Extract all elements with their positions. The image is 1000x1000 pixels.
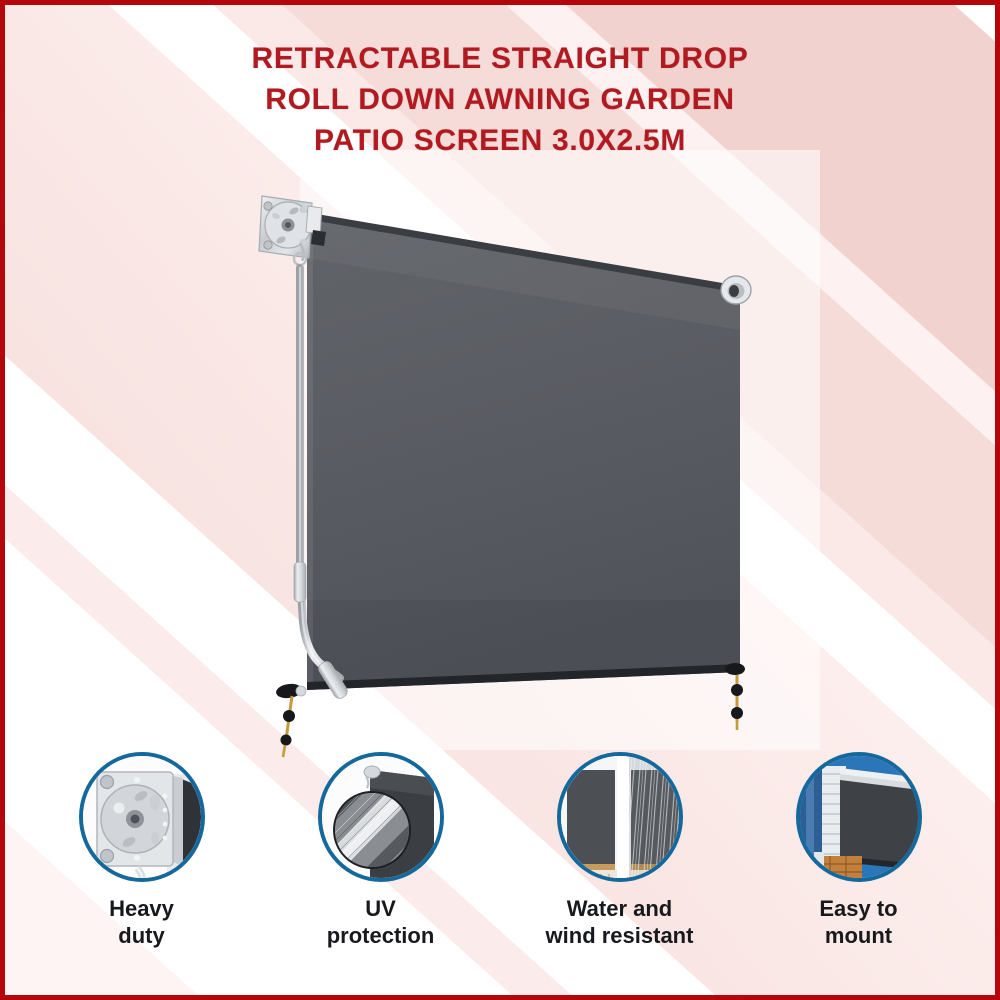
feature-label-line: Easy to bbox=[819, 895, 897, 922]
feature-uv-protection: UV protection bbox=[261, 752, 500, 977]
title-line-3: PATIO SCREEN 3.0X2.5M bbox=[0, 120, 1000, 161]
feature-label-line: Water and bbox=[546, 895, 694, 922]
title-line-1: RETRACTABLE STRAIGHT DROP bbox=[0, 38, 1000, 79]
feature-label: UV protection bbox=[327, 895, 435, 949]
bottom-left-tie-down bbox=[275, 682, 306, 757]
mounting-bracket-art bbox=[83, 756, 205, 882]
feature-label-line: wind resistant bbox=[546, 922, 694, 949]
rain-split-art bbox=[561, 756, 683, 882]
title-line-2: ROLL DOWN AWNING GARDEN bbox=[0, 79, 1000, 120]
fabric-uv-art bbox=[322, 756, 444, 882]
right-end-cap bbox=[721, 276, 751, 304]
feature-label-line: duty bbox=[109, 922, 174, 949]
bottom-right-tie-down bbox=[725, 663, 745, 730]
product-listing-image: RETRACTABLE STRAIGHT DROP ROLL DOWN AWNI… bbox=[0, 0, 1000, 1000]
feature-label: Water and wind resistant bbox=[546, 895, 694, 949]
wall-mount-art bbox=[800, 756, 922, 882]
page-title: RETRACTABLE STRAIGHT DROP ROLL DOWN AWNI… bbox=[0, 38, 1000, 161]
feature-label-line: UV bbox=[327, 895, 435, 922]
feature-label: Easy to mount bbox=[819, 895, 897, 949]
feature-easy-to-mount: Easy to mount bbox=[739, 752, 978, 977]
feature-row: Heavy duty bbox=[22, 752, 978, 977]
mounting-bracket-icon bbox=[79, 752, 205, 882]
feature-label-line: protection bbox=[327, 922, 435, 949]
feature-water-wind-resistant: Water and wind resistant bbox=[500, 752, 739, 977]
feature-heavy-duty: Heavy duty bbox=[22, 752, 261, 977]
rain-wind-split-icon bbox=[557, 752, 683, 882]
feature-label-line: Heavy bbox=[109, 895, 174, 922]
wall-mounted-awning-icon bbox=[796, 752, 922, 882]
fabric-uv-closeup-icon bbox=[318, 752, 444, 882]
fabric-panel bbox=[307, 218, 740, 690]
feature-label: Heavy duty bbox=[109, 895, 174, 949]
feature-label-line: mount bbox=[819, 922, 897, 949]
